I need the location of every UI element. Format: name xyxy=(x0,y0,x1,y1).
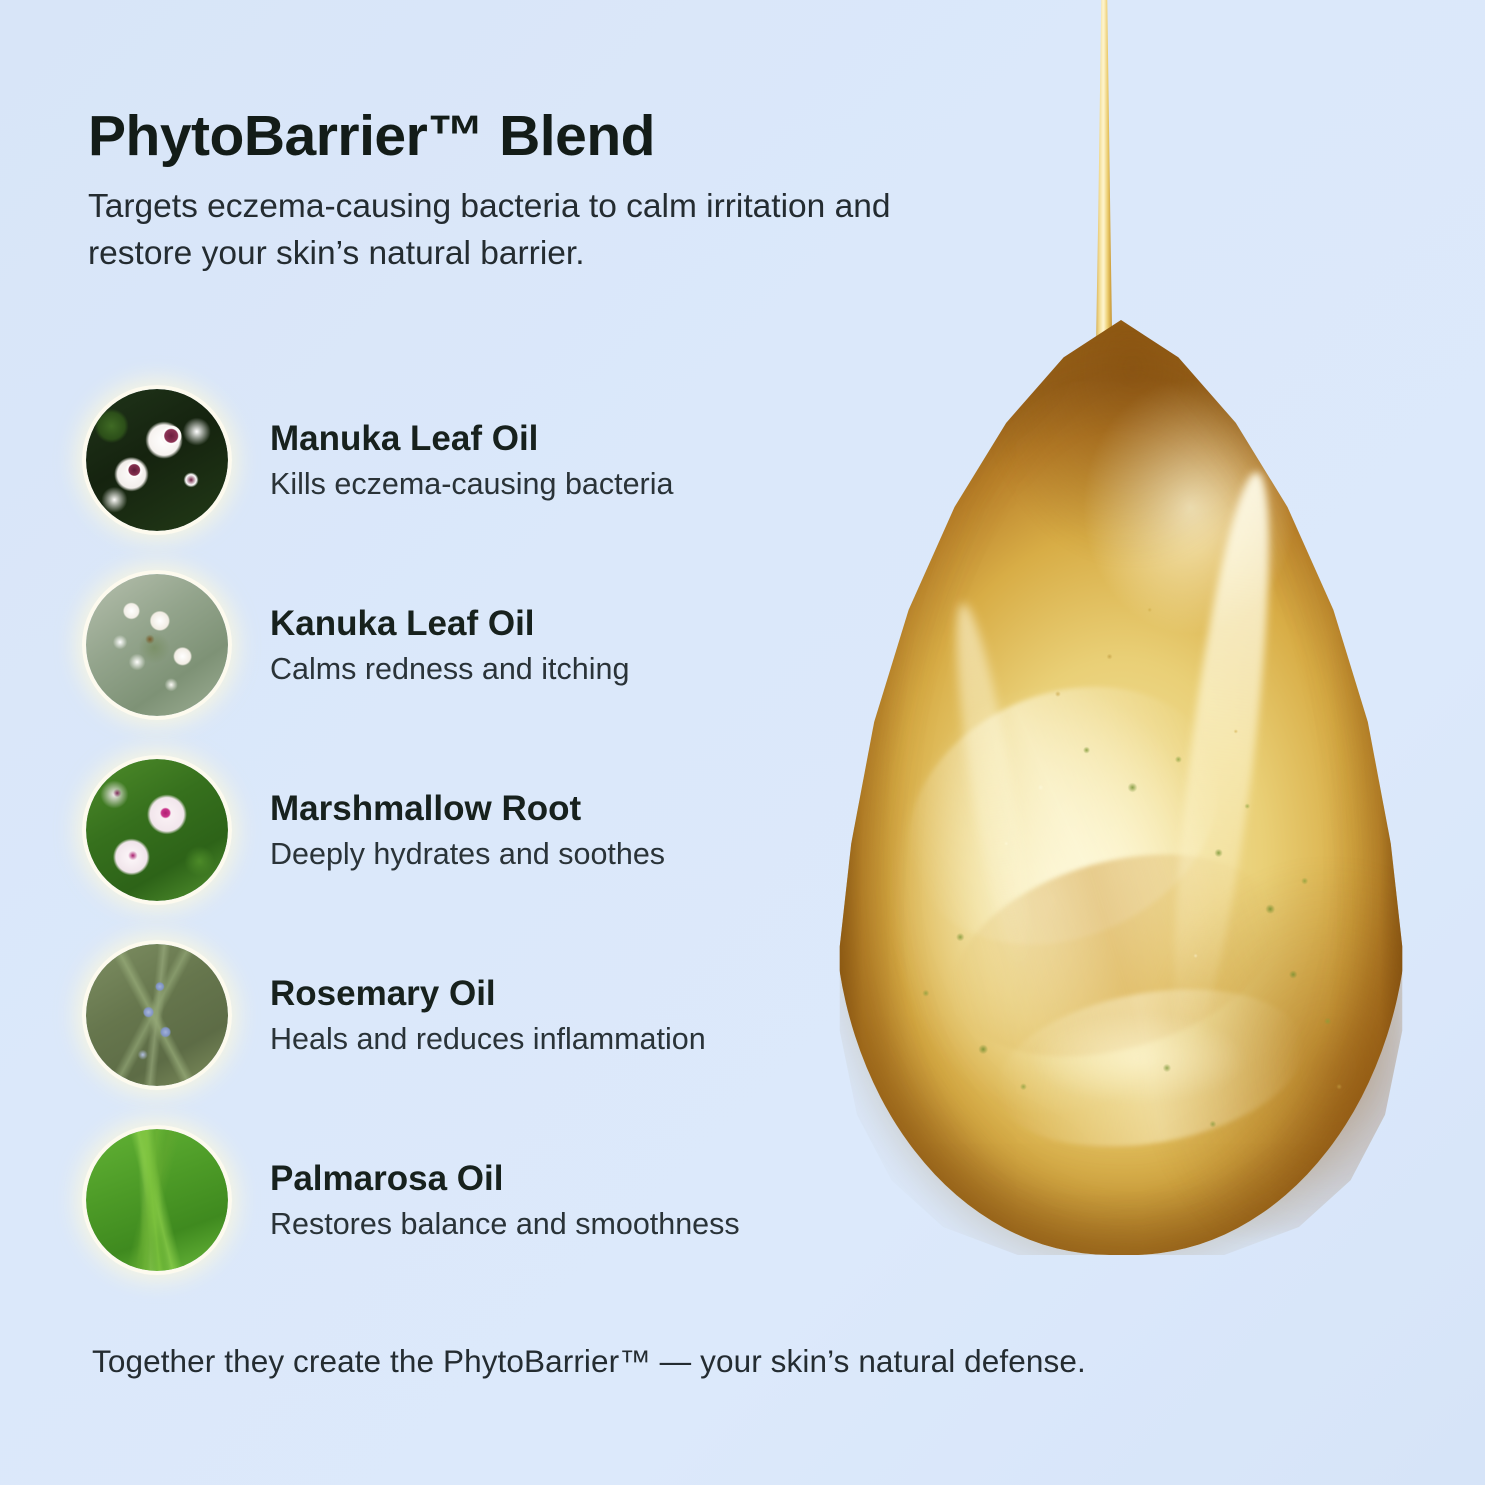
page-title: PhytoBarrier™ Blend xyxy=(88,105,968,169)
oil-droplet-body xyxy=(834,320,1408,1255)
rosemary-sprig-photo xyxy=(86,944,228,1086)
list-item: Marshmallow Root Deeply hydrates and soo… xyxy=(82,755,912,905)
ingredient-benefit: Heals and reduces inflammation xyxy=(270,1021,706,1058)
manuka-flower-photo xyxy=(86,389,228,531)
header-block: PhytoBarrier™ Blend Targets eczema-causi… xyxy=(88,105,968,278)
infographic-canvas: PhytoBarrier™ Blend Targets eczema-causi… xyxy=(0,0,1485,1485)
ingredient-name: Manuka Leaf Oil xyxy=(270,418,673,459)
ingredient-text: Marshmallow Root Deeply hydrates and soo… xyxy=(270,788,665,873)
page-subtitle: Targets eczema-causing bacteria to calm … xyxy=(88,183,918,278)
ingredient-thumbnail xyxy=(82,570,232,720)
list-item: Palmarosa Oil Restores balance and smoot… xyxy=(82,1125,912,1275)
ingredient-text: Kanuka Leaf Oil Calms redness and itchin… xyxy=(270,603,629,688)
ingredient-name: Rosemary Oil xyxy=(270,973,706,1014)
ingredient-thumbnail xyxy=(82,385,232,535)
ingredient-text: Rosemary Oil Heals and reduces inflammat… xyxy=(270,973,706,1058)
list-item: Kanuka Leaf Oil Calms redness and itchin… xyxy=(82,570,912,720)
ingredient-list: Manuka Leaf Oil Kills eczema-causing bac… xyxy=(82,385,912,1275)
ingredient-benefit: Kills eczema-causing bacteria xyxy=(270,466,673,503)
droplet-lower-highlight xyxy=(1029,1012,1247,1106)
palmarosa-grass-photo xyxy=(86,1129,228,1271)
ingredient-name: Palmarosa Oil xyxy=(270,1158,740,1199)
ingredient-text: Manuka Leaf Oil Kills eczema-causing bac… xyxy=(270,418,673,503)
ingredient-name: Marshmallow Root xyxy=(270,788,665,829)
ingredient-benefit: Restores balance and smoothness xyxy=(270,1206,740,1243)
marshmallow-flower-photo xyxy=(86,759,228,901)
ingredient-benefit: Calms redness and itching xyxy=(270,651,629,688)
kanuka-flower-photo xyxy=(86,574,228,716)
footer-tagline: Together they create the PhytoBarrier™ —… xyxy=(92,1343,1086,1380)
list-item: Manuka Leaf Oil Kills eczema-causing bac… xyxy=(82,385,912,535)
ingredient-benefit: Deeply hydrates and soothes xyxy=(270,836,665,873)
ingredient-thumbnail xyxy=(82,940,232,1090)
ingredient-text: Palmarosa Oil Restores balance and smoot… xyxy=(270,1158,740,1243)
ingredient-thumbnail xyxy=(82,1125,232,1275)
ingredient-name: Kanuka Leaf Oil xyxy=(270,603,629,644)
ingredient-thumbnail xyxy=(82,755,232,905)
list-item: Rosemary Oil Heals and reduces inflammat… xyxy=(82,940,912,1090)
